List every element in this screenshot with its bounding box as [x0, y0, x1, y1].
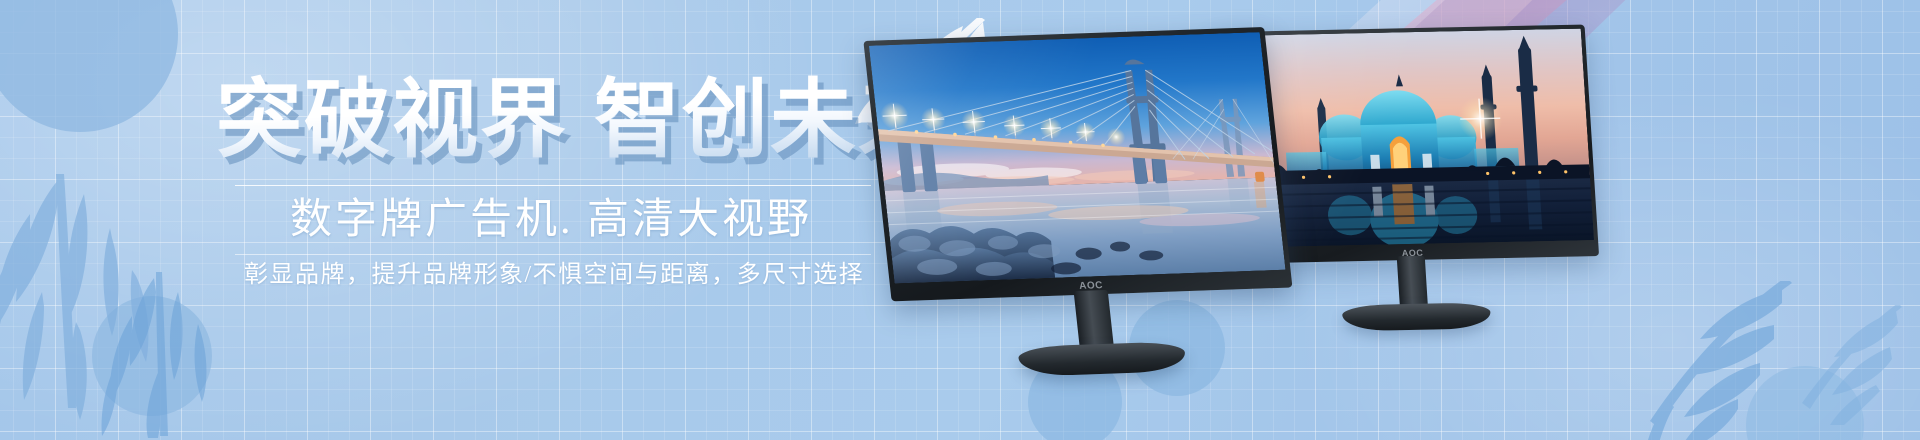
monitor-front-screen [869, 32, 1286, 283]
headline-part-1: 突破视界 [216, 72, 568, 168]
divider-top [235, 185, 871, 186]
divider-bottom [235, 254, 871, 255]
bridge-artwork [869, 32, 1286, 283]
monitor-front-stand-base [1017, 341, 1187, 377]
monitor-front: AOC [863, 27, 1299, 369]
promo-banner: 突破视界智创未来 数字牌广告机. 高清大视野 彰显品牌，提升品牌形象/不惧空间与… [0, 0, 1920, 440]
product-images: AOC [860, 0, 1920, 440]
tagline: 彰显品牌，提升品牌形象/不惧空间与距离，多尺寸选择 [244, 258, 864, 292]
monitor-front-bezel: AOC [863, 27, 1292, 301]
subtitle: 数字牌广告机. 高清大视野 [290, 192, 812, 248]
copy-block: 突破视界智创未来 数字牌广告机. 高清大视野 彰显品牌，提升品牌形象/不惧空间与… [0, 0, 900, 440]
monitor-back-stand-base [1342, 302, 1492, 331]
page-title: 突破视界智创未来 [216, 72, 946, 168]
